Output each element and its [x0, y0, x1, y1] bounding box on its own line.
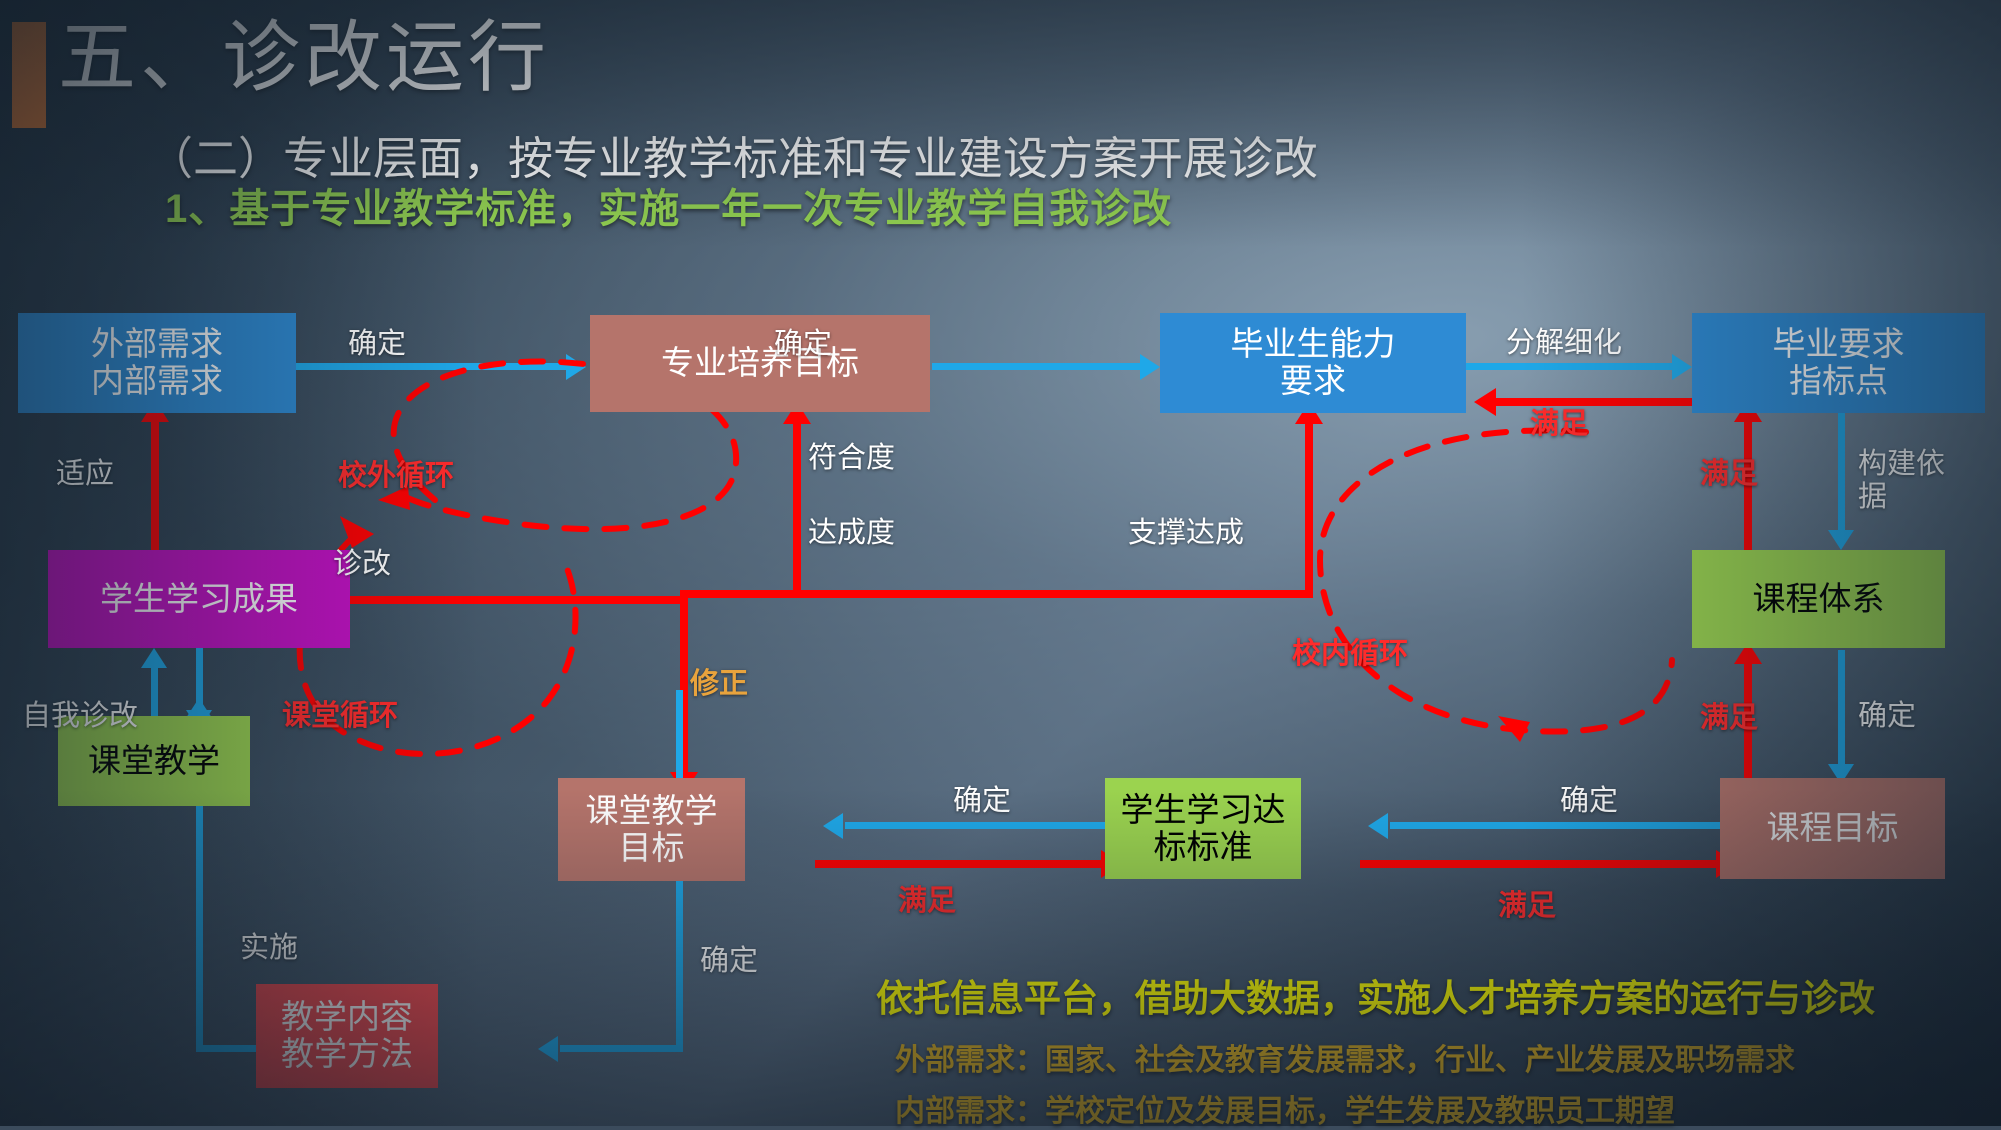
edge-classroom-to-outcome — [151, 666, 158, 716]
label-satisfy-5: 满足 — [1498, 890, 1556, 923]
page-subtitle-highlight: 1、基于专业教学标准，实施一年一次专业教学自我诊改 — [165, 176, 1172, 234]
node-graduation-req-indicator[interactable]: 毕业要求 指标点 — [1692, 313, 1985, 413]
label-conformity: 符合度 — [808, 442, 895, 475]
label-determine-4: 确定 — [700, 945, 758, 978]
label-self-diagnose: 自我诊改 — [22, 700, 138, 733]
label-satisfy-3: 满足 — [1700, 702, 1758, 735]
edge-demand-to-goal — [296, 363, 568, 370]
arrowhead-classroom-to-outcome — [141, 648, 167, 668]
arrowhead-req-to-coursesystem — [1828, 530, 1854, 550]
node-teaching-content-method[interactable]: 教学内容 教学方法 — [256, 984, 438, 1088]
footer-line-3: 内部需求：学校定位及发展目标，学生发展及教职员工期望 — [895, 1086, 1675, 1130]
edge-support-horizontal — [793, 590, 1313, 598]
dashed-path-on-campus-cycle — [1320, 430, 1672, 731]
label-satisfy-2: 满足 — [1700, 458, 1758, 491]
node-classroom-teaching-goal[interactable]: 课堂教学 目标 — [558, 778, 745, 881]
node-course-goal[interactable]: 课程目标 — [1720, 778, 1945, 879]
label-implement: 实施 — [240, 932, 298, 965]
edge-classgoal-to-content-horizontal — [560, 1045, 683, 1052]
label-determine-5: 确定 — [953, 785, 1011, 818]
label-support-achieve: 支撑达成 — [1128, 517, 1244, 550]
node-major-training-goal[interactable]: 专业培养目标 — [590, 315, 930, 412]
arrowhead-goal-to-ability — [1140, 354, 1160, 380]
label-achievement: 达成度 — [808, 517, 895, 550]
title-accent-bar — [12, 22, 46, 128]
footer-line-2: 外部需求：国家、社会及教育发展需求，行业、产业发展及职场需求 — [895, 1035, 1795, 1079]
arrowhead-ability-to-req — [1672, 354, 1692, 380]
label-satisfy-4: 满足 — [898, 885, 956, 918]
edge-standard-to-coursegoal-satisfy — [1360, 860, 1720, 868]
edge-ability-to-req — [1466, 363, 1674, 370]
edge-standard-to-classgoal — [845, 822, 1105, 829]
node-external-internal-demand[interactable]: 外部需求 内部需求 — [18, 313, 296, 413]
edge-coursesystem-to-coursegoal — [1838, 650, 1845, 768]
label-determine-6: 确定 — [1560, 785, 1618, 818]
arrowhead-content-to-classroom — [186, 698, 212, 718]
label-determine-3: 确定 — [1858, 700, 1916, 733]
edge-conformity-vertical — [793, 420, 801, 596]
slide-canvas: 五、诊改运行 （二）专业层面，按专业教学标准和专业建设方案开展诊改 1、基于专业… — [0, 0, 2001, 1126]
edge-req-to-ability-satisfy — [1496, 398, 1692, 406]
edge-goal-to-ability — [932, 363, 1142, 370]
label-decompose-refine: 分解细化 — [1506, 327, 1622, 360]
edge-conformity-horizontal — [680, 590, 800, 598]
label-determine-1: 确定 — [348, 328, 406, 361]
arrowhead-classgoal-to-content — [538, 1036, 558, 1062]
label-classroom-cycle: 课堂循环 — [282, 700, 398, 733]
label-build-basis: 构建依 据 — [1858, 448, 1945, 515]
node-student-learning-standard[interactable]: 学生学习达 标标准 — [1105, 778, 1301, 879]
label-determine-2: 确定 — [774, 328, 832, 361]
label-satisfy-1: 满足 — [1530, 408, 1588, 441]
arrowhead-demand-to-goal — [566, 354, 586, 380]
page-title: 五、诊改运行 — [58, 18, 550, 96]
edge-coursegoal-to-standard — [1390, 822, 1720, 829]
label-adapt: 适应 — [56, 458, 114, 491]
node-course-system[interactable]: 课程体系 — [1692, 550, 1945, 648]
label-diagnose-reform: 诊改 — [333, 548, 391, 581]
footer-line-1: 依托信息平台，借助大数据，实施人才培养方案的运行与诊改 — [876, 968, 1875, 1022]
label-correct: 修正 — [690, 668, 748, 701]
label-off-campus-cycle: 校外循环 — [338, 460, 454, 493]
dashed-arrow-on-campus-cycle — [1498, 716, 1530, 742]
arrowhead-standard-to-classgoal — [823, 813, 843, 839]
node-graduate-ability-req[interactable]: 毕业生能力 要求 — [1160, 313, 1466, 413]
label-on-campus-cycle: 校内循环 — [1292, 638, 1408, 671]
dashed-arrow-classroom-cycle — [340, 516, 374, 548]
edge-req-to-coursesystem — [1838, 412, 1845, 534]
node-student-learning-outcome[interactable]: 学生学习成果 — [48, 550, 350, 648]
edge-support-vertical — [1305, 420, 1313, 596]
arrowhead-req-to-ability-satisfy — [1474, 388, 1496, 416]
edge-outcome-to-demand — [151, 418, 159, 554]
arrowhead-coursegoal-to-standard — [1368, 813, 1388, 839]
edge-classgoal-to-standard-satisfy — [815, 860, 1105, 868]
